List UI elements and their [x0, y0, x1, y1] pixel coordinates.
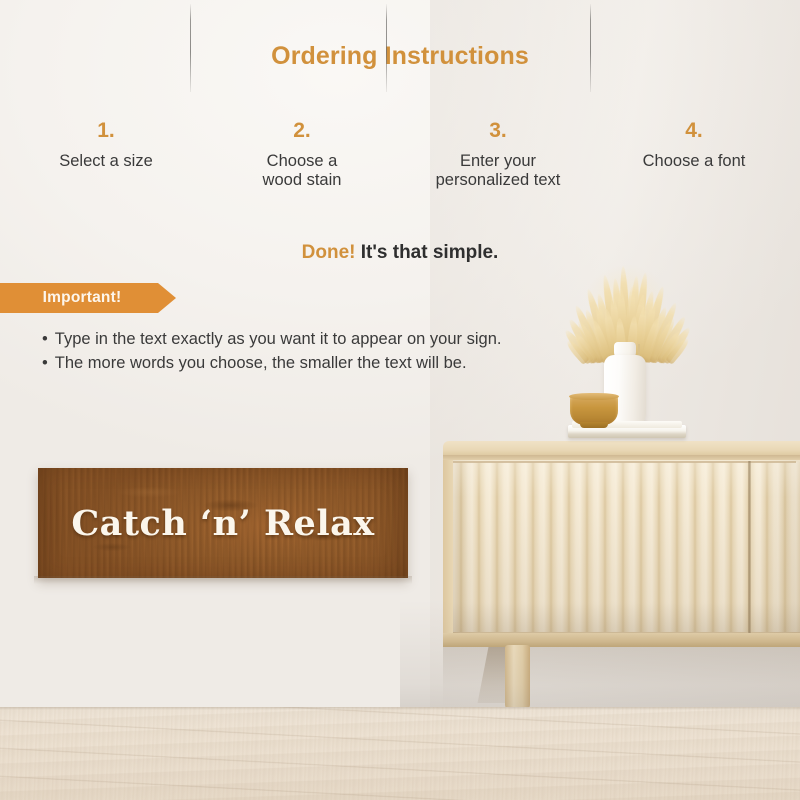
step-3-label: Enter your personalized text: [406, 152, 590, 190]
bullet-item-2: •The more words you choose, the smaller …: [42, 351, 642, 375]
step-1-label: Select a size: [14, 152, 198, 171]
instructions-overlay: Ordering Instructions 1. Select a size 2…: [0, 0, 800, 800]
important-ribbon: Important!: [0, 283, 176, 313]
step-divider-3: [590, 4, 591, 92]
wooden-sign: Catch ‘n’ Relax: [38, 468, 408, 578]
important-ribbon-label: Important!: [43, 289, 134, 307]
screenshot-canvas: Ordering Instructions 1. Select a size 2…: [0, 0, 800, 800]
step-3: 3. Enter your personalized text: [400, 118, 596, 216]
sign-drop-shadow: [34, 576, 412, 584]
step-divider-1: [190, 4, 191, 92]
done-rest: It's that simple.: [356, 242, 499, 263]
sign-text: Catch ‘n’ Relax: [71, 503, 374, 544]
page-title: Ordering Instructions: [0, 42, 800, 71]
done-line: Done! It's that simple.: [0, 242, 800, 264]
step-2: 2. Choose a wood stain: [204, 118, 400, 216]
step-4-label: Choose a font: [602, 152, 786, 171]
bullet-text-1: Type in the text exactly as you want it …: [55, 330, 502, 348]
step-1-number: 1.: [14, 118, 198, 144]
step-2-label: Choose a wood stain: [210, 152, 394, 190]
bullet-text-2: The more words you choose, the smaller t…: [55, 354, 467, 372]
step-3-number: 3.: [406, 118, 590, 144]
step-divider-2: [386, 4, 387, 92]
steps-row: 1. Select a size 2. Choose a wood stain …: [8, 118, 792, 216]
step-2-number: 2.: [210, 118, 394, 144]
bullet-item-1: •Type in the text exactly as you want it…: [42, 327, 642, 351]
step-4-number: 4.: [602, 118, 786, 144]
bullet-marker-icon: •: [42, 330, 48, 348]
important-bullets: •Type in the text exactly as you want it…: [42, 327, 642, 375]
step-4: 4. Choose a font: [596, 118, 792, 216]
step-1: 1. Select a size: [8, 118, 204, 216]
bullet-marker-icon: •: [42, 354, 48, 372]
done-highlight: Done!: [302, 242, 356, 263]
